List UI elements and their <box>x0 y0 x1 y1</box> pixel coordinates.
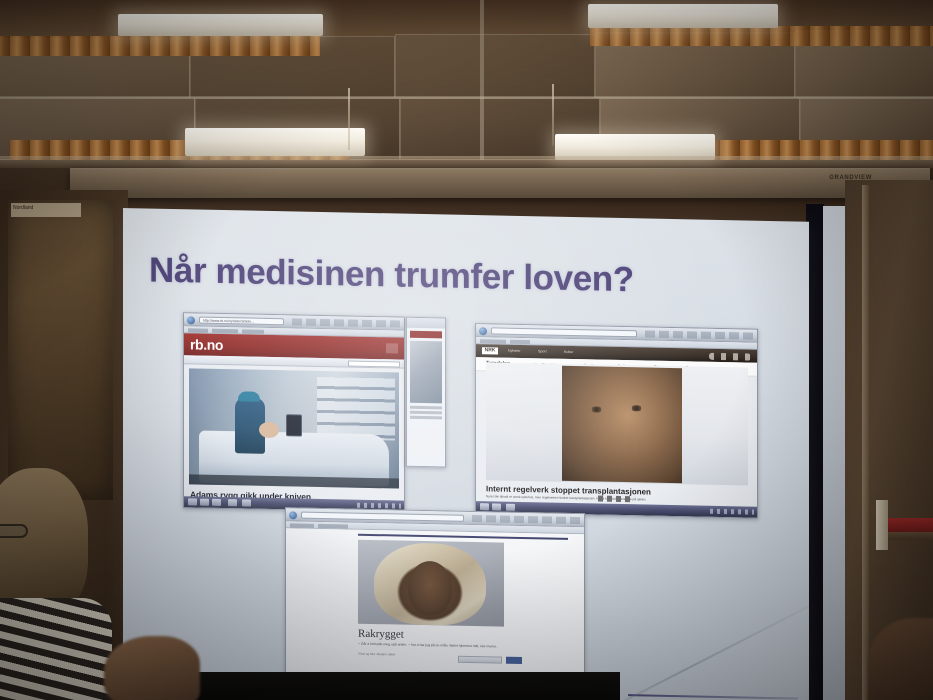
eye <box>590 406 603 412</box>
door-frame <box>862 185 869 700</box>
eyeglasses <box>0 524 28 538</box>
ceiling-light-fixture <box>588 4 778 28</box>
browser-toolbar-buttons[interactable] <box>472 515 580 524</box>
share-button[interactable] <box>458 656 502 664</box>
imer-logo-rule <box>628 694 798 699</box>
bookmark-item[interactable] <box>290 523 314 527</box>
address-bar[interactable]: http://www.rb.no/nyheter/article... <box>199 317 284 326</box>
nrk-menu-item[interactable]: Nyheter <box>508 349 521 353</box>
bookmark-item[interactable] <box>242 329 264 333</box>
taskbar-icon[interactable] <box>492 503 501 510</box>
wall-mounted-box <box>876 500 888 550</box>
carousel-dots[interactable] <box>598 496 632 503</box>
article-title: Rakrygget <box>358 628 404 641</box>
browser-logo-icon <box>479 327 487 335</box>
light-louver-band <box>590 26 933 46</box>
bookmark-item[interactable] <box>480 339 506 344</box>
ceiling-grid-line <box>0 96 933 99</box>
rb-logo[interactable]: rb.no <box>190 336 223 353</box>
patient-face <box>259 422 279 438</box>
hospital-shelving <box>317 377 395 441</box>
bookmark-item[interactable] <box>510 339 530 343</box>
taskbar-icon[interactable] <box>200 499 209 506</box>
raised-hand <box>104 636 200 700</box>
bookmark-item[interactable] <box>318 523 348 528</box>
hijab-portrait-photo <box>358 540 504 627</box>
ad-text-line <box>410 416 442 420</box>
ad-image <box>410 341 442 404</box>
facebook-share-button[interactable] <box>506 657 522 664</box>
system-tray[interactable] <box>357 503 401 509</box>
face <box>408 561 452 616</box>
audience-member <box>0 468 102 700</box>
article-hero-photo <box>189 368 399 488</box>
wall-map: Nordland <box>8 200 113 500</box>
taskbar-icon[interactable] <box>228 499 237 506</box>
page-top-rule <box>358 534 568 540</box>
article-byline: Tekst og foto: Mariam Jalloh <box>358 652 395 658</box>
map-label: Nordland <box>11 203 81 217</box>
hanging-wire <box>348 88 350 150</box>
striped-shirt <box>0 598 112 700</box>
ad-header <box>407 318 445 329</box>
screen-fabric-right <box>823 206 845 700</box>
taskbar-icon[interactable] <box>506 504 515 511</box>
surgical-cap <box>238 391 260 401</box>
bookmark-item[interactable] <box>188 328 208 332</box>
browser-logo-icon <box>187 316 195 324</box>
slide: Når medisinen trumfer loven? http://www.… <box>123 208 809 700</box>
nrk-menu-item[interactable]: Kultur <box>564 350 573 354</box>
browser-logo-icon <box>289 511 297 519</box>
nrk-menu-item[interactable]: Sport <box>538 349 547 353</box>
browser-toolbar-buttons[interactable] <box>292 318 400 327</box>
projection-screen: Når medisinen trumfer loven? http://www.… <box>123 196 845 700</box>
ceiling-grid-line <box>480 0 484 160</box>
nrk-toolbar-icons[interactable] <box>709 352 751 360</box>
system-tray[interactable] <box>710 509 754 515</box>
browser-toolbar-buttons[interactable] <box>645 330 753 339</box>
ad-text-line <box>410 411 442 415</box>
screenshot-nrk: NRK Nyheter Sport Kultur Trøndelag Nord-… <box>475 323 758 519</box>
screenshot-rb-no: http://www.rb.no/nyheter/article... rb.n… <box>183 312 405 512</box>
ad-text-line <box>410 406 442 410</box>
url-text: http://www.rb.no/nyheter/article... <box>203 318 254 323</box>
woman-portrait-photo <box>562 366 682 483</box>
hamburger-menu-icon[interactable] <box>386 343 398 353</box>
taskbar-icon[interactable] <box>188 498 197 505</box>
article-subtitle: – Går a forholde meg upå andre. – har a … <box>358 642 566 650</box>
bookmark-item[interactable] <box>212 328 238 333</box>
ceiling-light-fixture <box>185 128 365 156</box>
taskbar-icon[interactable] <box>242 499 251 506</box>
taskbar-icon[interactable] <box>212 499 221 506</box>
address-bar[interactable] <box>491 327 637 337</box>
hair <box>0 468 88 618</box>
hanging-wire <box>552 84 554 146</box>
sidebar-ad-column <box>406 317 446 468</box>
ceiling-light-fixture <box>118 14 323 36</box>
eye <box>630 405 643 411</box>
ceiling-tile <box>395 34 595 98</box>
slide-title: Når medisinen trumfer loven? <box>149 251 634 301</box>
taskbar-icon[interactable] <box>480 503 489 510</box>
tablet-device <box>286 414 302 436</box>
screenshot-scene: GRANDVIEW Nordland Når medisinen trumfer… <box>0 0 933 700</box>
projector-screen-housing: GRANDVIEW <box>70 168 930 198</box>
ceiling-beam <box>0 156 933 168</box>
search-input[interactable] <box>348 360 400 367</box>
ad-brand-logo <box>410 331 442 339</box>
address-bar[interactable] <box>301 512 464 522</box>
light-louver-band <box>0 36 320 56</box>
nrk-logo[interactable]: NRK <box>482 347 498 354</box>
projected-slide-surface: Når medisinen trumfer loven? http://www.… <box>123 208 809 700</box>
red-binder <box>884 518 933 532</box>
